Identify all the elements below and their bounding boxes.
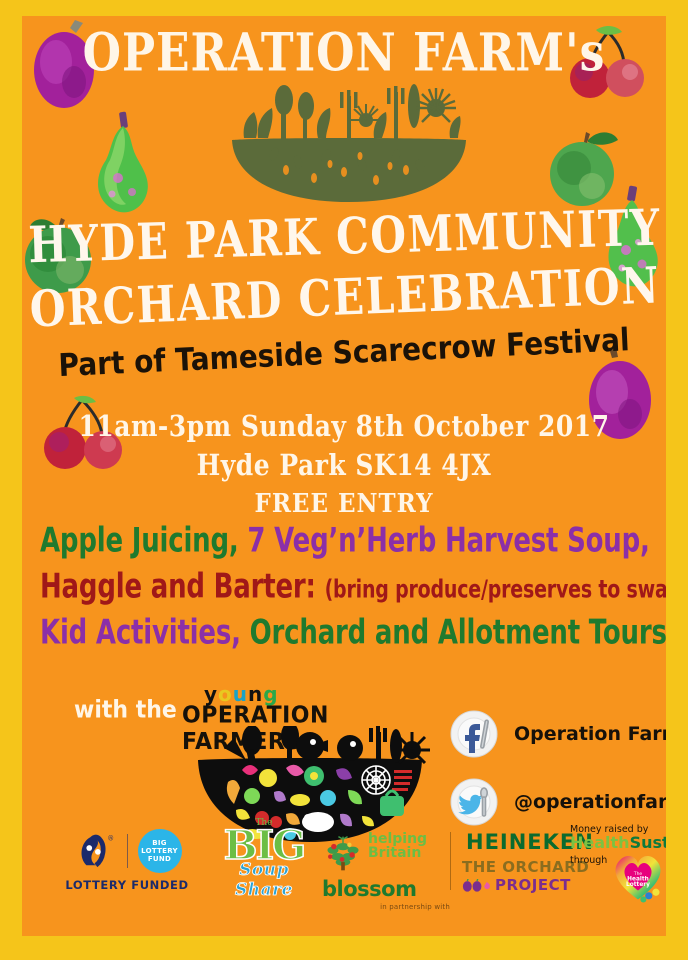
blossom-tree-icon xyxy=(322,832,364,879)
blossom-britain: Britain xyxy=(368,846,427,860)
facebook-plate-icon[interactable] xyxy=(450,710,498,758)
health-lottery-heart-icon: The Health Lottery xyxy=(609,851,666,908)
sustain-word: Sustain xyxy=(630,833,666,852)
sponsor-big-soup-share: The BIG Soup Share xyxy=(210,818,318,900)
big-soup-big: BIG xyxy=(210,828,318,864)
blossom-helping: helping xyxy=(368,832,427,846)
facebook-row[interactable]: Operation Farm xyxy=(450,710,666,758)
health-sustain-name: HealthSustain xyxy=(570,835,666,851)
sponsor-helping-britain-blossom: helping Britain blossom in partnership w… xyxy=(322,832,450,911)
page-title: OPERATION FARM's xyxy=(22,23,666,83)
poster-root: OPERATION FARM's xyxy=(0,0,688,960)
orchard-project-line-2: PROJECT xyxy=(495,876,571,894)
sponsor-strip: ® BIGLOTTERYFUND LOTTERY FUNDED The BIG … xyxy=(22,818,666,928)
blossom-word: blossom xyxy=(322,879,450,900)
lottery-funded-label: LOTTERY FUNDED xyxy=(52,878,202,892)
activity-haggle-note: (bring produce/preserves to swap!), xyxy=(325,575,666,604)
orchard-fruit-icons xyxy=(462,879,492,892)
activity-kid-activities: Kid Activities, xyxy=(40,614,241,653)
sponsor-divider xyxy=(450,832,451,890)
pear-icon-left xyxy=(82,108,164,220)
blossom-partnership: in partnership with xyxy=(322,903,450,911)
activities-list: Apple Juicing, 7 Veg’n’Herb Harvest Soup… xyxy=(40,528,648,666)
lottery-crossed-fingers-icon: ® xyxy=(73,827,117,876)
svg-text:®: ® xyxy=(107,834,114,842)
with-the-label: with the xyxy=(74,697,177,725)
poster-inner-panel: OPERATION FARM's xyxy=(22,16,666,936)
event-venue: Hyde Park SK14 4JX xyxy=(22,451,666,480)
event-time-date: 11am-3pm Sunday 8th October 2017 xyxy=(22,412,666,441)
young-operation-farmers-logo: young OPERATION FARMERS xyxy=(182,684,432,730)
svg-text:Lottery: Lottery xyxy=(626,882,650,888)
big-lottery-fund-badge: BIGLOTTERYFUND xyxy=(138,829,182,873)
event-details: 11am-3pm Sunday 8th October 2017 Hyde Pa… xyxy=(22,414,666,529)
activity-line-2: Haggle and Barter: (bring produce/preser… xyxy=(40,570,648,604)
main-title-group: HYDE PARK COMMUNITY ORCHARD CELEBRATION … xyxy=(22,212,666,369)
apple-icon-right xyxy=(542,124,628,210)
activity-harvest-soup: 7 Veg’n’Herb Harvest Soup, xyxy=(247,522,649,561)
sponsor-health-sustain: Money raised by HealthSustain through xyxy=(570,824,666,908)
activity-tours: Orchard and Allotment Tours xyxy=(250,614,666,653)
activity-line-3: Kid Activities, Orchard and Allotment To… xyxy=(40,616,648,650)
health-through: through xyxy=(570,855,607,866)
big-lottery-fund-text: BIGLOTTERYFUND xyxy=(141,839,178,863)
health-word: Health xyxy=(570,833,630,852)
sponsor-lottery-funded: ® BIGLOTTERYFUND LOTTERY FUNDED xyxy=(52,824,202,892)
facebook-handle: Operation Farm xyxy=(514,723,666,745)
twitter-handle: @operationfarm xyxy=(514,791,666,813)
activity-haggle-barter: Haggle and Barter: xyxy=(40,568,316,607)
salad-bowl-silhouette-icon xyxy=(214,78,484,203)
activity-apple-juicing: Apple Juicing, xyxy=(40,522,239,561)
activity-line-1: Apple Juicing, 7 Veg’n’Herb Harvest Soup… xyxy=(40,524,648,558)
event-entry: FREE ENTRY xyxy=(22,490,666,516)
